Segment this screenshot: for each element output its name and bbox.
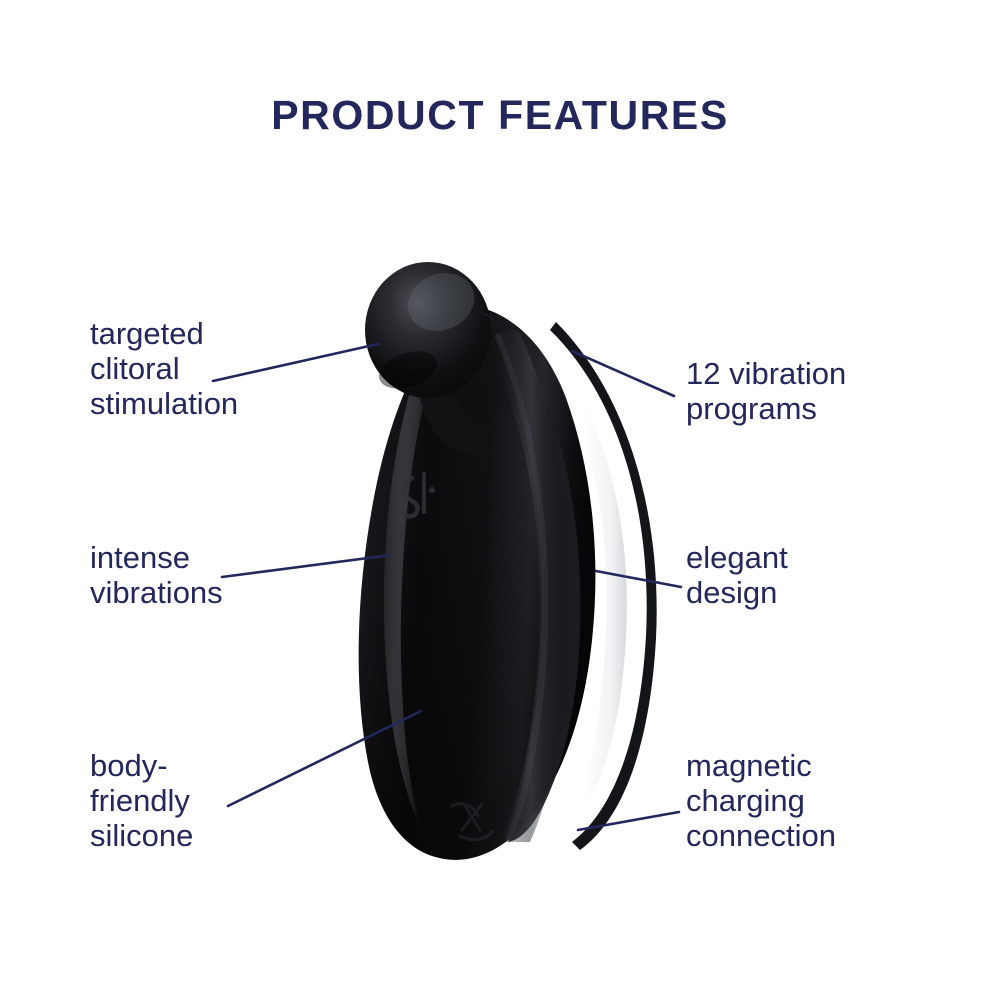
callout-label-targeted-clitoral-stimulation: targeted clitoral stimulation xyxy=(90,316,238,421)
callout-label-12-vibration-programs: 12 vibration programs xyxy=(686,356,846,426)
callout-label-elegant-design: elegant design xyxy=(686,540,788,610)
infographic-canvas: PRODUCT FEATURES xyxy=(0,0,1000,1000)
callout-label-body-friendly-silicone: body- friendly silicone xyxy=(90,748,193,853)
callout-label-intense-vibrations: intense vibrations xyxy=(90,540,223,610)
callout-label-magnetic-charging-connection: magnetic charging connection xyxy=(686,748,836,853)
product-shape xyxy=(359,262,657,860)
